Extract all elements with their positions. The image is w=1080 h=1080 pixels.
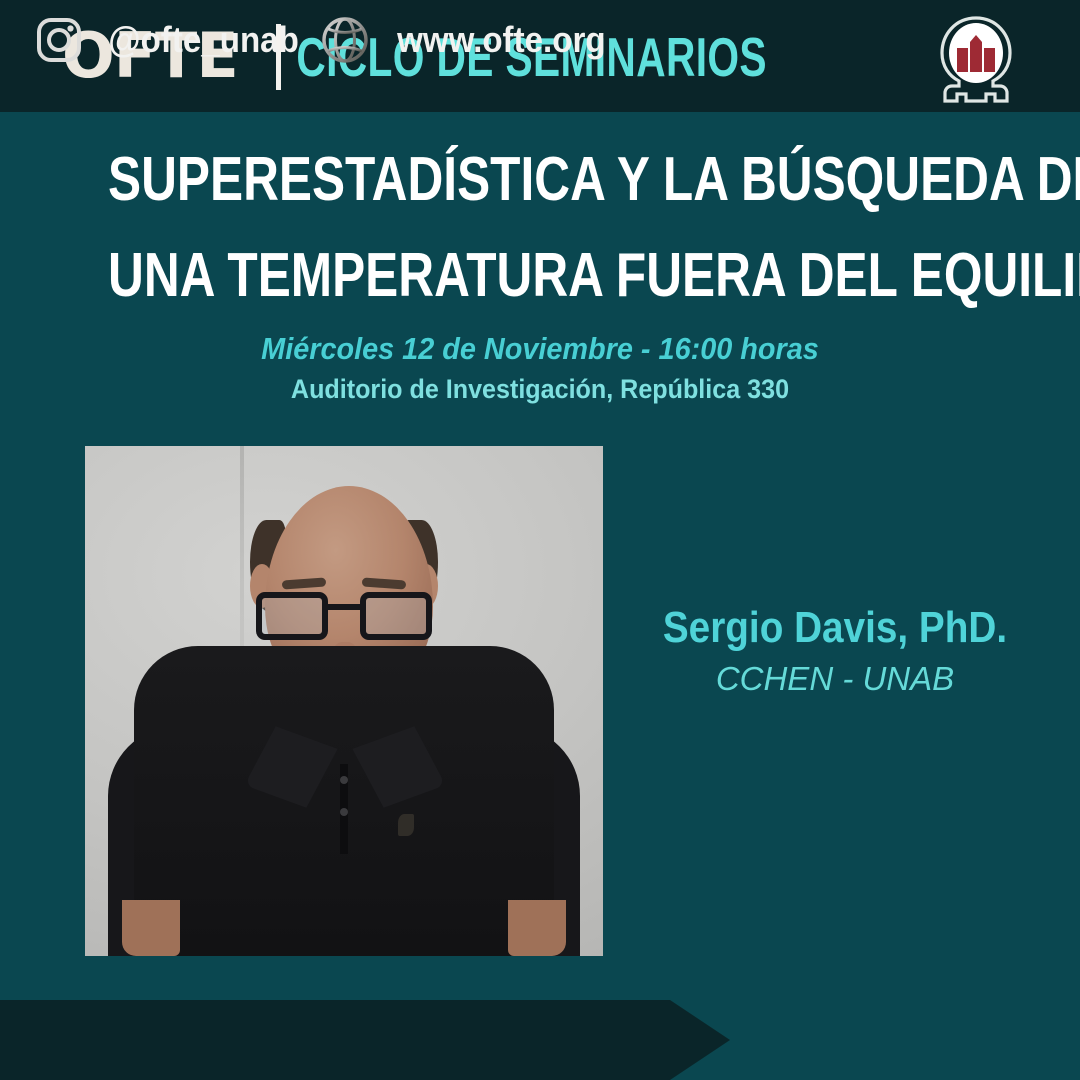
photo-shirt-button-top bbox=[340, 776, 348, 784]
instagram-link[interactable]: @ofte_unab bbox=[36, 0, 307, 80]
title-line-1: SUPERESTADÍSTICA Y LA BÚSQUEDA DE bbox=[108, 132, 972, 228]
unab-omega-logo-icon bbox=[930, 14, 1022, 106]
instagram-icon bbox=[36, 17, 82, 63]
title-line-2: UNA TEMPERATURA FUERA DEL EQUILIBRIO bbox=[108, 228, 972, 324]
photo-lens-right bbox=[360, 592, 432, 640]
event-meta: Miércoles 12 de Noviembre - 16:00 horas … bbox=[0, 328, 1080, 408]
photo-lens-left bbox=[256, 592, 328, 640]
event-date: Miércoles 12 de Noviembre - 16:00 horas bbox=[38, 328, 1042, 370]
photo-glasses bbox=[256, 592, 432, 644]
event-location: Auditorio de Investigación, República 33… bbox=[38, 370, 1042, 408]
globe-icon bbox=[320, 15, 370, 65]
speaker-name: Sergio Davis, PhD. bbox=[646, 600, 1024, 656]
speaker-info: Sergio Davis, PhD. CCHEN - UNAB bbox=[620, 600, 1050, 702]
photo-shirt-button-bottom bbox=[340, 808, 348, 816]
footer-banner bbox=[0, 1000, 730, 1080]
seminar-poster: OFTE CICLO DE SEMINARIOS SUPERESTADÍSTIC… bbox=[0, 0, 1080, 1080]
photo-glasses-bridge bbox=[328, 604, 360, 610]
photo-shirt-logo bbox=[398, 814, 414, 836]
instagram-handle: @ofte_unab bbox=[108, 19, 299, 61]
photo-arm-right bbox=[508, 900, 566, 956]
website-url: www.ofte.org bbox=[397, 19, 606, 61]
photo-arm-left bbox=[122, 900, 180, 956]
seminar-title: SUPERESTADÍSTICA Y LA BÚSQUEDA DE UNA TE… bbox=[0, 132, 1080, 324]
speaker-photo bbox=[85, 446, 603, 956]
speaker-affiliation: CCHEN - UNAB bbox=[620, 656, 1050, 702]
website-link[interactable]: www.ofte.org bbox=[320, 0, 615, 80]
